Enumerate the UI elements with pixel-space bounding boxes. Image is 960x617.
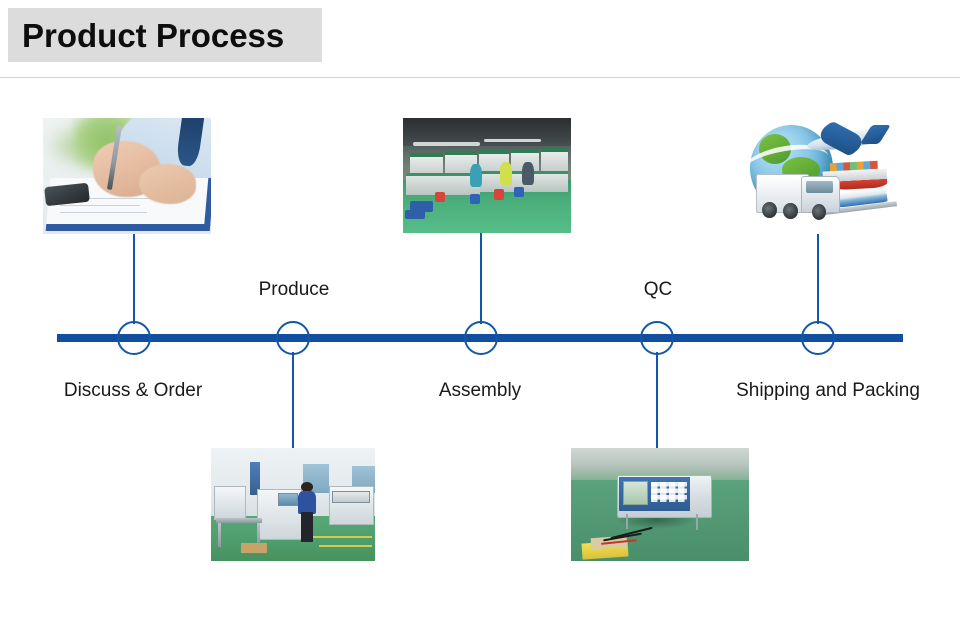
milestone-photo-produce[interactable] [211,448,375,561]
truck-wheel [812,204,826,220]
timeline-label-qc: QC [644,280,673,299]
factory-worker [522,162,534,185]
timeline-node-5[interactable] [801,321,835,355]
connector-stem-2 [292,352,294,450]
connector-stem-4 [656,352,658,450]
instrument-keypad [651,482,687,502]
truck-windshield [806,181,833,194]
photo-production-workshop [211,448,375,561]
floor-marking-line [313,536,372,538]
hand-resting [139,164,196,203]
timeline-label-discuss-order: Discuss & Order [64,381,202,400]
production-machine [214,486,246,520]
header-divider [0,77,960,78]
machine-display [278,493,298,506]
milestone-photo-discuss-order[interactable] [43,118,211,234]
blue-crate [405,210,425,219]
worker-legs [301,512,312,541]
machine-display [332,491,370,503]
truck-wheel [783,203,797,219]
instrument-leg [696,514,698,531]
table-leg [257,523,260,546]
truck-wheel [762,202,776,218]
timeline-node-4[interactable] [640,321,674,355]
timeline-label-shipping-packing: Shipping and Packing [736,381,920,400]
timeline-node-1[interactable] [117,321,151,355]
instrument-leg [626,514,628,530]
work-table [216,518,262,523]
timeline-label-produce: Produce [259,280,330,299]
stool [494,189,504,199]
floor-marking-line [319,545,371,547]
connector-stem-3 [480,233,482,324]
factory-worker [500,162,512,185]
workstation-unit [541,148,568,173]
page-title-box: Product Process [8,8,322,62]
worker-torso [298,491,316,514]
timeline-label-assembly: Assembly [439,381,521,400]
milestone-photo-assembly[interactable] [403,118,571,233]
timeline-node-3[interactable] [464,321,498,355]
photo-assembly-line [403,118,571,233]
timeline-node-2[interactable] [276,321,310,355]
photo-global-logistics [740,118,900,234]
cardboard-box [241,543,267,553]
ceiling-lamp [413,142,480,145]
factory-worker [470,164,482,187]
milestone-photo-qc[interactable] [571,448,749,561]
paper-line [60,205,141,206]
stool [435,192,445,202]
paper-line [60,212,147,213]
page-title: Product Process [8,19,284,52]
stool [514,187,524,197]
photo-contract-signing [43,118,211,234]
airplane-tail [861,125,892,144]
table-leg [218,523,221,548]
instrument-screen [623,481,648,506]
ceiling-lamp [484,139,541,142]
connector-stem-1 [133,234,135,324]
product-process-slide: Product Process Discuss & Order Produce … [0,0,960,617]
connector-stem-5 [817,234,819,324]
stool [470,194,480,204]
photo-qc-test-station [571,448,749,561]
milestone-photo-shipping-packing[interactable] [740,118,900,234]
